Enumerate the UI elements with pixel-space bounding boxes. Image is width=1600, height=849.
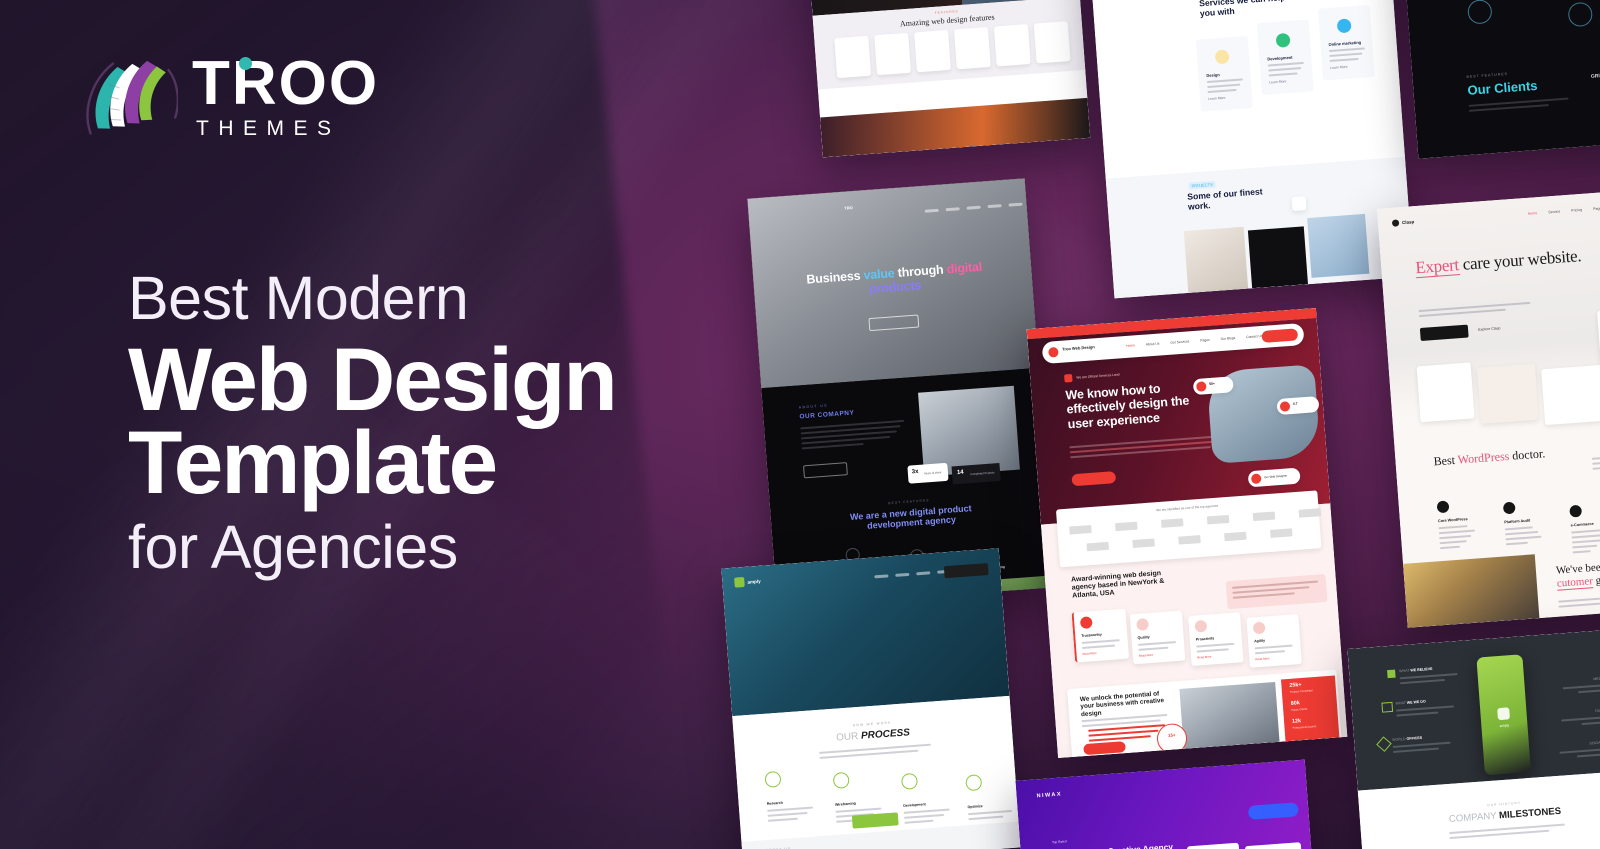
feature-card[interactable] bbox=[994, 24, 1031, 66]
troo-fan-logo-icon bbox=[76, 52, 178, 144]
template-mockup-gallery: We shape unforgettable brands design sol… bbox=[690, 0, 1600, 849]
poster-canvas: We shape unforgettable brands design sol… bbox=[0, 0, 1600, 849]
value-card[interactable]: Proactivity Read More bbox=[1188, 612, 1244, 666]
feature-card[interactable] bbox=[1034, 21, 1071, 63]
value-card[interactable]: Agility Read More bbox=[1246, 614, 1302, 668]
partner-logo bbox=[1253, 512, 1276, 522]
client-logo: GRID bbox=[1591, 73, 1600, 80]
partner-logo bbox=[1069, 525, 1092, 535]
mockup-technology-design-studio[interactable]: Technology & design studio Get a Free Ke… bbox=[1082, 0, 1413, 298]
service-card[interactable]: Design Learn More bbox=[1196, 36, 1253, 112]
feature-card[interactable] bbox=[954, 27, 991, 69]
stat-value: 3x bbox=[912, 469, 919, 475]
service-link[interactable]: Learn More bbox=[1269, 79, 1287, 84]
service-link[interactable]: Learn More bbox=[1330, 65, 1348, 70]
app-icon bbox=[1497, 707, 1510, 720]
nav-cta-button[interactable] bbox=[1261, 328, 1298, 343]
headline-line-4: for Agencies bbox=[128, 517, 616, 578]
stat-label: Years of Work bbox=[924, 470, 942, 475]
mockup-cta-button[interactable] bbox=[852, 812, 899, 828]
service-card[interactable]: Online marketing Learn More bbox=[1318, 5, 1375, 81]
partner-logo bbox=[1115, 522, 1138, 532]
partner-logo bbox=[1270, 528, 1293, 538]
mockup-eyebrow: BEST FEATURES bbox=[1466, 72, 1508, 79]
phone-mockup: amply bbox=[1476, 654, 1531, 775]
mockup-nav[interactable]: HomeAbout UsOur ServicesPagesOur BlogsCo… bbox=[1126, 333, 1281, 348]
service-item[interactable]: Web & Mobile Design bbox=[886, 547, 948, 552]
stat-label: Projects Completed bbox=[1290, 689, 1313, 694]
ui-preview-card[interactable] bbox=[1417, 362, 1475, 422]
development-icon bbox=[1276, 33, 1291, 48]
logo-dot-icon bbox=[239, 57, 252, 70]
preview-thumb[interactable] bbox=[1245, 842, 1303, 849]
service-name: Online marketing bbox=[1328, 40, 1361, 47]
do-icon bbox=[1381, 702, 1393, 713]
agility-icon bbox=[1253, 622, 1266, 635]
logo-icon bbox=[734, 577, 745, 588]
partner-logo bbox=[1086, 542, 1109, 552]
mockup-title: Our Clients bbox=[1467, 78, 1538, 98]
partners-note: We are identified as one of the top agen… bbox=[1156, 504, 1218, 513]
feature-card[interactable] bbox=[914, 30, 951, 72]
mockup-logo: Clasp bbox=[1402, 219, 1415, 225]
badge-reviews: 4.7 bbox=[1276, 396, 1319, 415]
partner-logo bbox=[1207, 515, 1230, 525]
marketing-icon bbox=[1337, 18, 1352, 33]
service-link[interactable]: Learn More bbox=[1208, 96, 1226, 101]
mockup-expert-care[interactable]: Clasp HomeServicePricingPagesBlogBuy Exp… bbox=[1377, 188, 1600, 628]
mockup-our-process[interactable]: amply HOW WE WORK OUR PROCESS Research bbox=[721, 548, 1020, 849]
stat-value: 12k bbox=[1292, 718, 1301, 725]
stats-panel: 25k+ Projects Completed 80k Happy Client… bbox=[1281, 676, 1339, 742]
partner-logo bbox=[1132, 538, 1155, 548]
design-icon bbox=[1215, 49, 1230, 64]
mockup-logo: NIWAX bbox=[1036, 792, 1062, 800]
mockup-title: Multipurpose Creative Agency HTML5 Templ… bbox=[1053, 840, 1195, 849]
brand-logo[interactable]: TROO THEMES bbox=[76, 52, 379, 144]
value-card[interactable]: Trustworthy Read More bbox=[1072, 609, 1130, 663]
mockup-logo: TRO bbox=[844, 205, 853, 211]
stat-value: 80k bbox=[1291, 700, 1300, 707]
feature-card[interactable] bbox=[834, 36, 871, 78]
mockup-logo: Troo Web Design bbox=[1062, 344, 1095, 351]
ui-preview-card[interactable] bbox=[1477, 364, 1539, 424]
preview-thumb[interactable] bbox=[1187, 843, 1241, 849]
brand-tagline: THEMES bbox=[192, 117, 379, 141]
step-name: Optimize bbox=[967, 804, 982, 809]
partner-logo bbox=[1224, 532, 1247, 542]
partner-logo bbox=[1161, 518, 1184, 528]
partner-logo bbox=[1299, 508, 1322, 518]
trustworthy-icon bbox=[1080, 616, 1093, 629]
phone-logo: amply bbox=[1481, 722, 1527, 729]
stat-value: 14 bbox=[957, 470, 964, 476]
mockup-user-experience[interactable]: Troo Web Design HomeAbout UsOur Services… bbox=[1027, 308, 1348, 758]
stat-badge: 14 Completed Projects bbox=[952, 463, 1001, 484]
value-title: Trustworthy bbox=[1081, 633, 1102, 638]
hero-headline: Best Modern Web Design Template for Agen… bbox=[128, 268, 616, 578]
value-link[interactable]: Read More bbox=[1082, 651, 1097, 656]
partner-logo bbox=[1178, 535, 1201, 545]
mockup-niwax[interactable]: NIWAX Top Rated Multipurpose Creative Ag… bbox=[1015, 760, 1318, 849]
mockup-company-milestones[interactable]: WHAT WE BELIEVE WHAT WE WE DO WORLD OFFI… bbox=[1347, 628, 1600, 849]
quality-icon bbox=[1136, 618, 1149, 631]
value-title: Quality bbox=[1137, 635, 1149, 640]
value-card[interactable]: Quality Read More bbox=[1130, 611, 1186, 665]
value-link[interactable]: Read More bbox=[1255, 656, 1270, 661]
mockup-business-value[interactable]: TRO Business value through digital produ… bbox=[747, 178, 1054, 607]
mockup-logo: amply bbox=[747, 578, 761, 584]
mockup-eyebrow: We are Official Services Land bbox=[1076, 373, 1119, 380]
headline-line-3: Template bbox=[128, 418, 616, 507]
stat-value: 25k+ bbox=[1289, 682, 1302, 689]
value-link[interactable]: Read More bbox=[1139, 653, 1154, 658]
value-title: Proactivity bbox=[1196, 636, 1215, 641]
service-name: Development bbox=[1267, 55, 1292, 62]
headline-line-2: Web Design bbox=[128, 335, 616, 424]
proactivity-icon bbox=[1194, 620, 1207, 633]
unlock-cta[interactable] bbox=[1083, 741, 1126, 755]
stat-label: Completed Projects bbox=[970, 470, 995, 476]
filter-icon[interactable] bbox=[1292, 196, 1307, 211]
stat-badge: 3x Years of Work bbox=[907, 463, 948, 484]
ui-preview-card[interactable] bbox=[1541, 365, 1600, 425]
logo-icon bbox=[1392, 219, 1399, 226]
mockup-eyebrow: Top Rated bbox=[1052, 839, 1067, 844]
eyebrow-icon bbox=[1064, 374, 1073, 383]
feature-card[interactable] bbox=[874, 33, 911, 75]
badge-clients: 50+ bbox=[1193, 376, 1234, 395]
headline-line-1: Best Modern bbox=[128, 268, 616, 329]
brand-logo-text: TROO THEMES bbox=[192, 55, 379, 142]
logo-icon bbox=[1048, 347, 1059, 358]
belief-icon bbox=[1387, 670, 1396, 679]
brand-name: TROO bbox=[192, 55, 379, 114]
value-link[interactable]: Read More bbox=[1197, 655, 1212, 660]
stat-label: Professional Experts bbox=[1292, 725, 1316, 730]
service-name: Design bbox=[1206, 72, 1220, 78]
mockup-digital-web-design[interactable]: We shape unforgettable brands design sol… bbox=[802, 0, 1091, 157]
value-title: Agility bbox=[1254, 639, 1265, 644]
mockup-our-clients[interactable]: 1392 77 BEST FEATURES Our Clients GRID U… bbox=[1394, 0, 1600, 159]
stat-label: Happy Clients bbox=[1291, 708, 1307, 712]
service-card[interactable]: Development Learn More bbox=[1257, 19, 1314, 95]
nav-cta-button[interactable] bbox=[1248, 802, 1299, 820]
